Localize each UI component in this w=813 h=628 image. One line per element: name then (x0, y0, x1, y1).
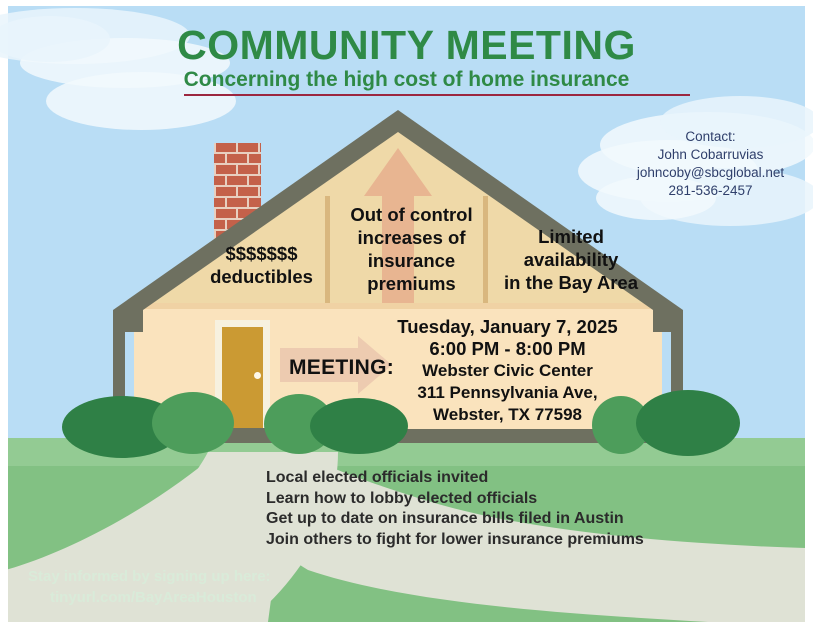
signup-prompt: Stay informed by signing up here: (28, 566, 328, 587)
panel-line: availability (491, 248, 651, 271)
panel-line: Out of control (333, 203, 490, 226)
door-knob-icon (254, 372, 261, 379)
panel-line: Limited (491, 225, 651, 248)
list-item: Get up to date on insurance bills filed … (266, 509, 686, 530)
page-subtitle: Concerning the high cost of home insuran… (0, 68, 813, 92)
attic-panel-deductibles: $$$$$$$ deductibles (190, 242, 333, 288)
meeting-address: 311 Pennsylvania Ave, (370, 382, 645, 404)
panel-line: deductibles (190, 265, 333, 288)
meeting-time: 6:00 PM - 8:00 PM (370, 338, 645, 360)
signup-link[interactable]: tinyurl.com/BayAreaHouston (28, 587, 328, 608)
contact-block: Contact: John Cobarruvias johncoby@sbcgl… (608, 128, 813, 200)
meeting-date: Tuesday, January 7, 2025 (370, 316, 645, 338)
attic-panel-availability: Limited availability in the Bay Area (491, 225, 651, 294)
panel-line: increases of (333, 226, 490, 249)
attic-panel-premiums: Out of control increases of insurance pr… (333, 203, 490, 295)
list-item: Learn how to lobby elected officials (266, 489, 686, 510)
panel-line: in the Bay Area (491, 271, 651, 294)
bush (152, 392, 234, 454)
meeting-venue: Webster Civic Center (370, 360, 645, 382)
bullet-list: Local elected officials invited Learn ho… (266, 468, 686, 550)
panel-line: premiums (333, 272, 490, 295)
contact-name: John Cobarruvias (608, 146, 813, 164)
list-item: Local elected officials invited (266, 468, 686, 489)
flyer-canvas: COMMUNITY MEETING Concerning the high co… (0, 0, 813, 628)
signup-block: Stay informed by signing up here: tinyur… (28, 566, 328, 608)
title-underline (184, 94, 690, 96)
bush (636, 390, 740, 456)
contact-phone[interactable]: 281-536-2457 (608, 182, 813, 200)
contact-email[interactable]: johncoby@sbcglobal.net (608, 164, 813, 182)
meeting-city-state-zip: Webster, TX 77598 (370, 404, 645, 426)
contact-label: Contact: (608, 128, 813, 146)
panel-line: $$$$$$$ (190, 242, 333, 265)
panel-line: insurance (333, 249, 490, 272)
list-item: Join others to fight for lower insurance… (266, 530, 686, 551)
meeting-details: Tuesday, January 7, 2025 6:00 PM - 8:00 … (370, 316, 645, 426)
page-title: COMMUNITY MEETING (0, 22, 813, 69)
